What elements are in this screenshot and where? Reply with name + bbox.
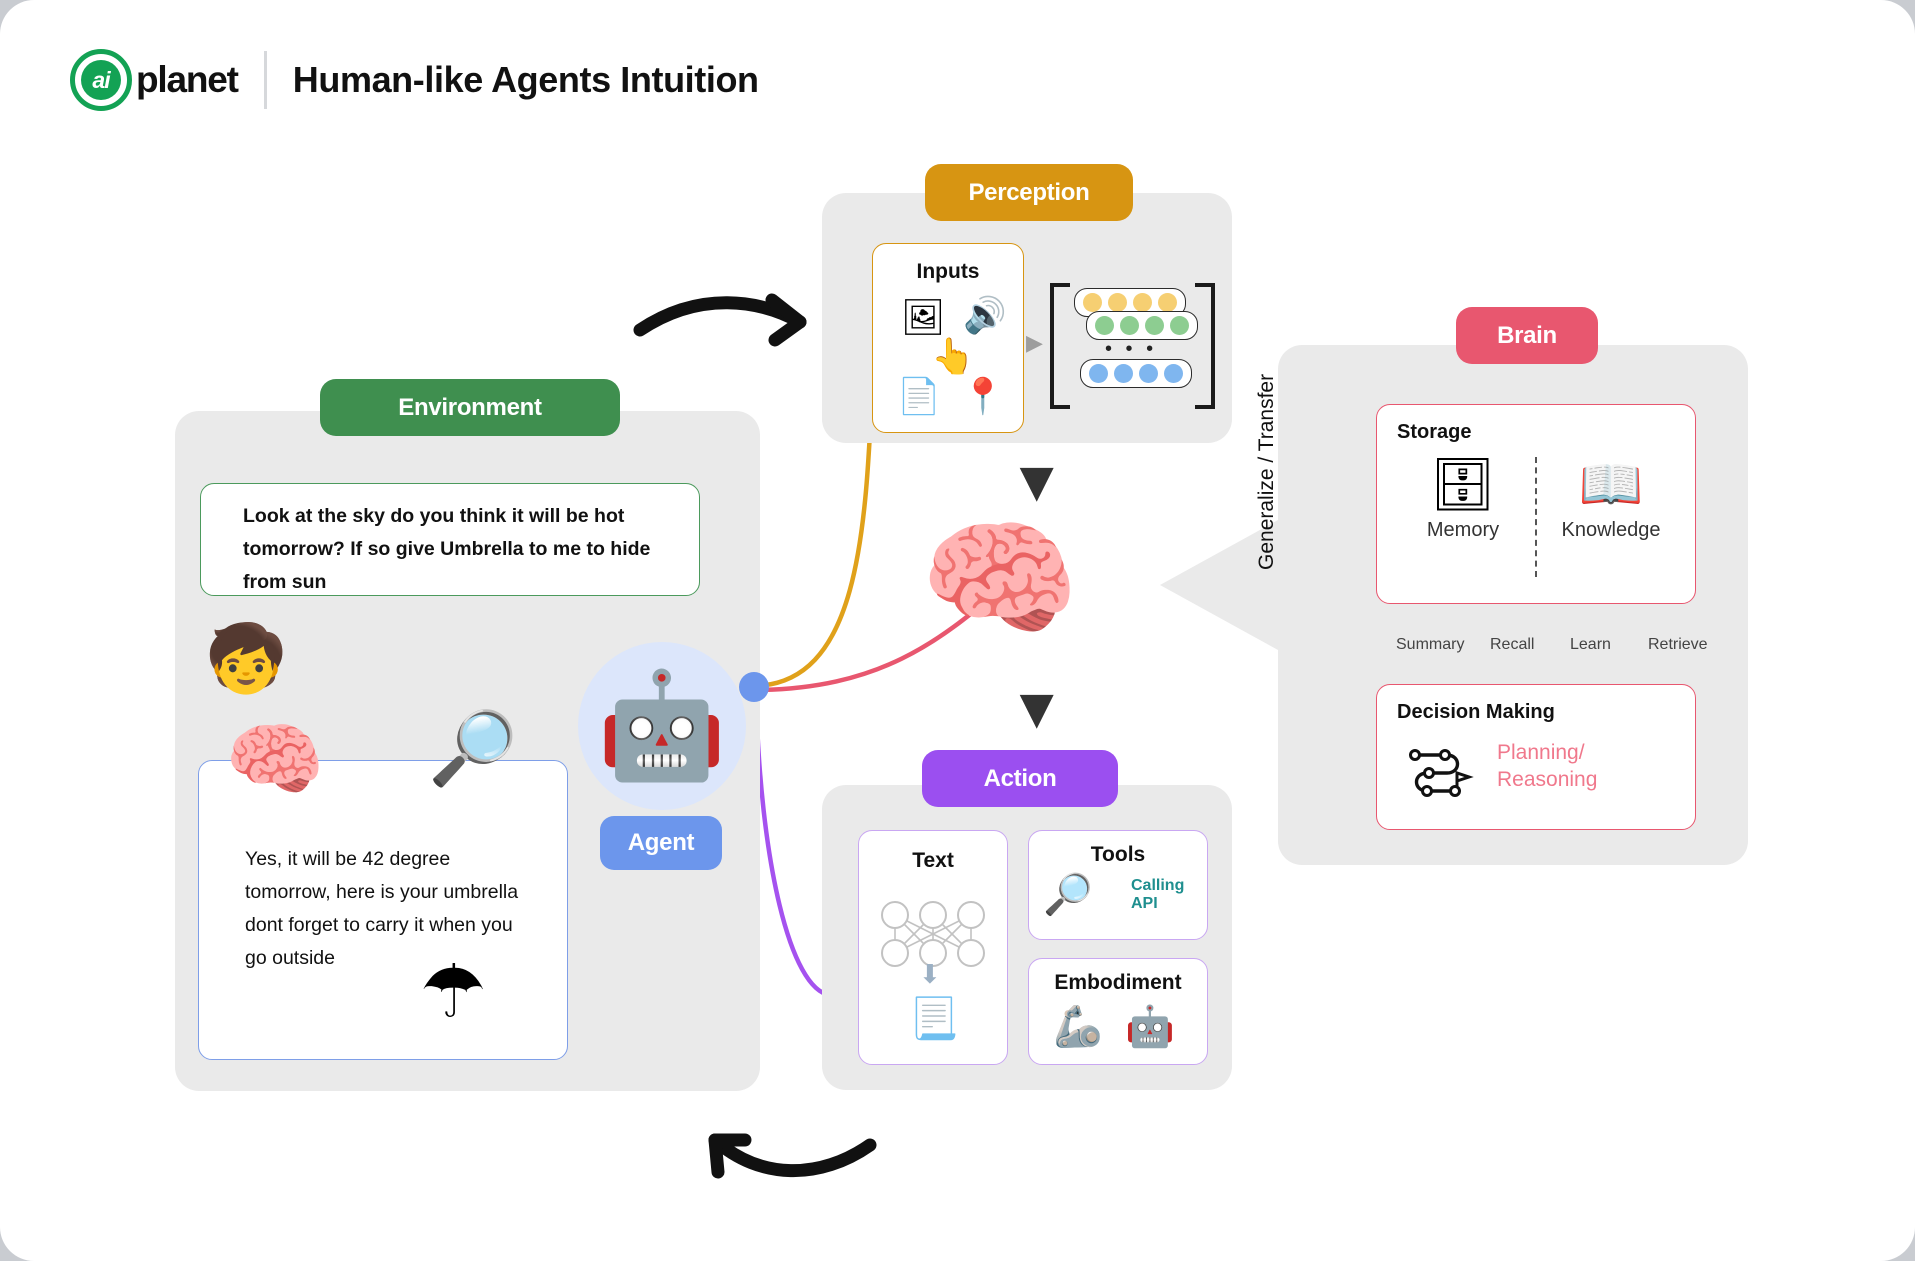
network-row-blue (1080, 359, 1192, 388)
book-icon: 📖 (1539, 459, 1683, 511)
neural-network-diagram: • • • (1050, 283, 1215, 401)
user-avatar-icon: 🧒 (205, 625, 287, 691)
network-node (1139, 364, 1158, 383)
network-node (1120, 316, 1139, 335)
header: ai planet Human-like Agents Intuition (70, 45, 759, 115)
arrow-action-to-env-head (715, 1140, 745, 1172)
bracket-right-icon (1195, 283, 1215, 409)
network-node (1083, 293, 1102, 312)
inputs-card: Inputs 🖼 🔊 👆 📄 📍 (872, 243, 1024, 433)
flow-label-learn: Learn (1570, 636, 1611, 654)
environment-badge: Environment (320, 379, 620, 436)
action-embodiment-card: Embodiment 🦾 🤖 (1028, 958, 1208, 1065)
arrow-brain-to-action: ▼ (1008, 680, 1065, 738)
knowledge-label: Knowledge (1539, 519, 1683, 542)
memory-block: 🗄 Memory (1391, 459, 1535, 542)
storage-title: Storage (1397, 421, 1471, 444)
inputs-title: Inputs (873, 260, 1023, 284)
robot-face-icon: 🤖 (597, 674, 727, 778)
network-node (1164, 364, 1183, 383)
action-tools-card: Tools 🔎 Calling API (1028, 830, 1208, 940)
network-ellipsis: • • • (1105, 338, 1157, 361)
environment-question-text: Look at the sky do you think it will be … (243, 500, 655, 599)
network-node (1170, 316, 1189, 335)
txt-file-icon: 📃 (909, 995, 959, 1042)
network-node (1089, 364, 1108, 383)
knowledge-block: 📖 Knowledge (1539, 459, 1683, 542)
action-embodiment-title: Embodiment (1029, 971, 1207, 995)
api-search-icon: 🔎 (1043, 871, 1093, 918)
flow-label-summary: Summary (1396, 636, 1464, 654)
humanoid-robot-icon: 🤖 (1125, 1003, 1175, 1050)
bracket-left-icon (1050, 283, 1070, 409)
brain-badge: Brain (1456, 307, 1598, 364)
storage-divider (1535, 457, 1537, 577)
arrow-action-to-env (715, 1140, 870, 1171)
text-down-arrow-icon: ⬇ (919, 959, 941, 990)
action-tools-title: Tools (1029, 843, 1207, 867)
planning-reasoning-label: Planning/Reasoning (1497, 739, 1597, 793)
environment-answer-bubble: Yes, it will be 42 degree tomorrow, here… (198, 760, 568, 1060)
arrow-env-to-perception-head (772, 300, 800, 340)
network-node (1133, 293, 1152, 312)
network-node (1158, 293, 1177, 312)
network-node (1114, 364, 1133, 383)
generalize-transfer-label: Generalize / Transfer (1255, 374, 1279, 570)
logo-ai-text: ai (81, 60, 121, 100)
network-node (1145, 316, 1164, 335)
action-badge: Action (922, 750, 1118, 807)
arrow-env-to-perception (640, 303, 800, 330)
arrow-perception-to-brain: ▼ (1008, 453, 1065, 511)
logo-planet-text: planet (136, 59, 238, 101)
flow-label-recall: Recall (1490, 636, 1534, 654)
network-node (1108, 293, 1127, 312)
umbrella-icon: ☂ (420, 955, 486, 1029)
header-divider (264, 51, 267, 109)
memory-label: Memory (1391, 519, 1535, 542)
environment-answer-text: Yes, it will be 42 degree tomorrow, here… (245, 843, 530, 975)
web-search-icon: 🔎 (428, 713, 518, 785)
agent-connector-dot (739, 672, 769, 702)
robot-hand-icon: 🦾 (1053, 1003, 1103, 1050)
document-icon: 📄 (897, 379, 941, 414)
diagram-canvas: ai planet Human-like Agents Intuition (0, 0, 1915, 1261)
database-icon: 🗄 (1391, 459, 1535, 511)
environment-question-bubble: Look at the sky do you think it will be … (200, 483, 700, 596)
flow-label-retrieve: Retrieve (1648, 636, 1708, 654)
image-icon: 🖼 (901, 300, 945, 335)
connector-agent-action (756, 694, 830, 995)
action-text-card: Text ⬇ 📃 (858, 830, 1008, 1065)
agent-badge: Agent (600, 816, 722, 870)
audio-icon: 🔊 (963, 298, 1007, 333)
decision-making-card: Decision Making Planning/Reasoning (1376, 684, 1696, 830)
calling-api-label: Calling API (1131, 877, 1207, 913)
network-row-green (1086, 311, 1198, 340)
network-node (1095, 316, 1114, 335)
central-brain-icon: 🧠 (920, 516, 1079, 644)
brain-spark-icon: 🧠 (225, 720, 325, 800)
ai-planet-logo-icon: ai (70, 49, 132, 111)
page-title: Human-like Agents Intuition (293, 59, 759, 101)
storage-card: Storage 🗄 Memory 📖 Knowledge (1376, 404, 1696, 604)
perception-badge: Perception (925, 164, 1133, 221)
touch-icon: 👆 (931, 339, 975, 374)
decision-making-title: Decision Making (1397, 701, 1555, 724)
inputs-to-network-arrow: ▶ (1026, 330, 1043, 356)
agent-avatar: 🤖 (578, 642, 746, 810)
map-pin-icon: 📍 (961, 379, 1005, 414)
action-text-title: Text (859, 849, 1007, 873)
planning-route-icon (1401, 743, 1477, 803)
